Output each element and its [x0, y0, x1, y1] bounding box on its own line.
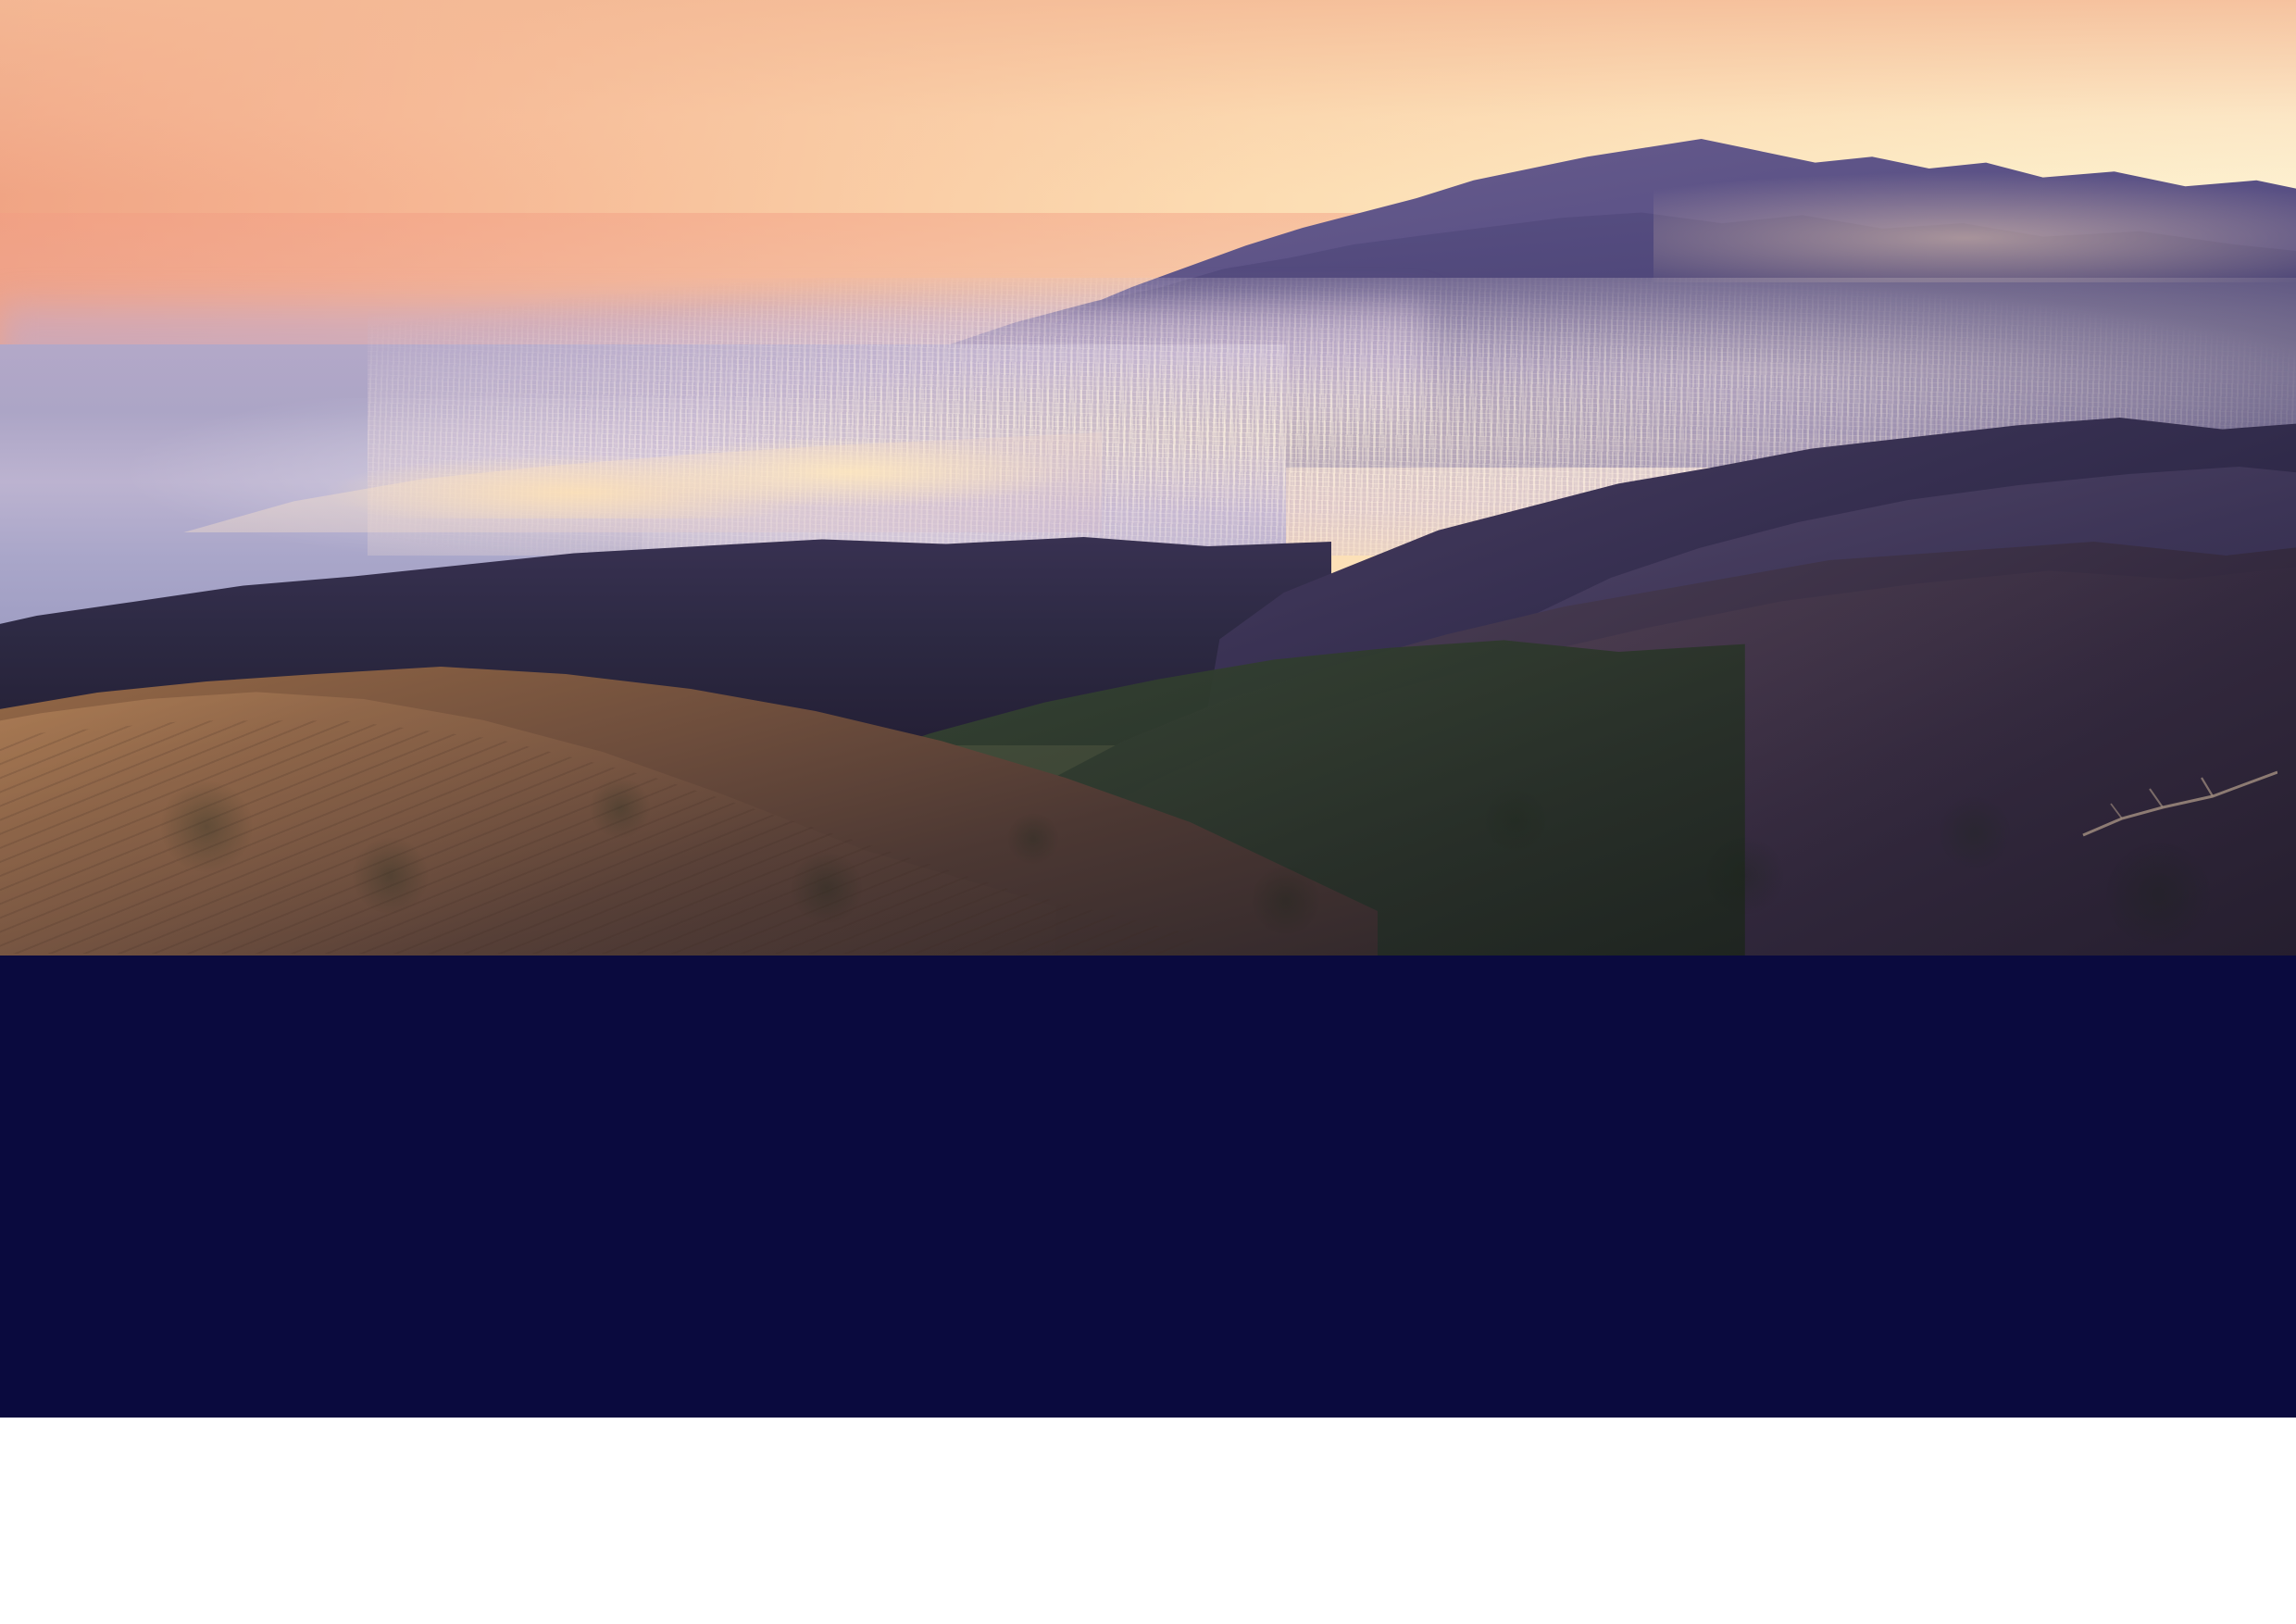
title-band: Informe anual 2024 — [0, 956, 2296, 1418]
scrub-vegetation — [0, 648, 2296, 956]
dry-branch-icon — [2074, 759, 2277, 861]
cover-page: Informe anual 2024 Financiado por: — [0, 0, 2296, 1624]
cover-photo — [0, 0, 2296, 956]
sky-top-gradient — [0, 0, 2296, 194]
port-cranes-lights — [620, 435, 1079, 509]
logo-footer: Financiado por: — [0, 1418, 2296, 1624]
ridge-sunset-glow — [1653, 171, 2296, 282]
